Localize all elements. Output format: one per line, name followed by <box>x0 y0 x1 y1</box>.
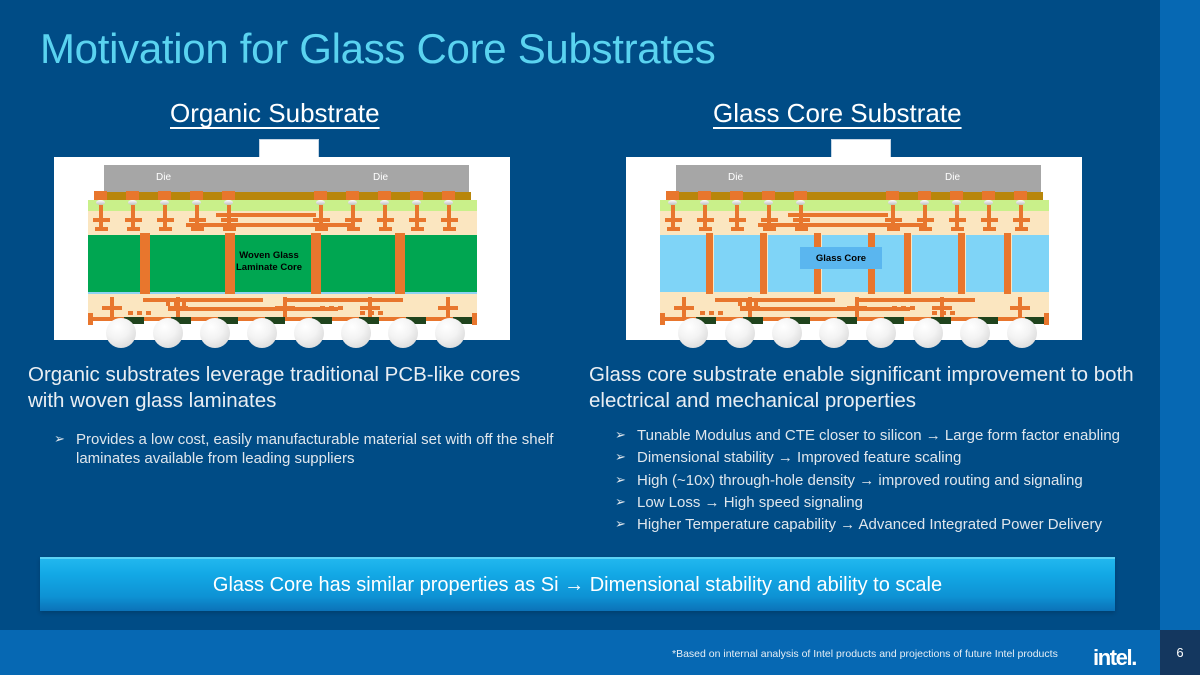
list-item: ➢ High (~10x) through-hole density → imp… <box>615 472 1160 490</box>
c4-bump-pad <box>918 191 931 200</box>
buildup-trace <box>1015 227 1028 231</box>
bottom-trace-dash <box>718 311 723 315</box>
bottom-trace-dash <box>378 311 383 315</box>
bottom-micro-via <box>446 309 450 317</box>
core-block <box>88 235 143 292</box>
micro-via <box>383 205 387 219</box>
die-block-left <box>676 165 885 193</box>
c4-bump-pad <box>698 191 711 200</box>
micro-via <box>1019 205 1023 219</box>
bottom-micro-via <box>110 309 114 317</box>
bullet-arrow-icon: ➢ <box>615 449 627 467</box>
micro-via <box>671 205 675 219</box>
bottom-trace-dash <box>950 311 955 315</box>
bga-ball <box>247 318 277 348</box>
bottom-micro-via <box>940 309 944 317</box>
bga-ball <box>200 318 230 348</box>
bottom-micro-via <box>368 309 372 317</box>
bga-ball <box>106 318 136 348</box>
core-block <box>966 235 1006 292</box>
bottom-trace-dash <box>320 306 325 310</box>
organic-diagram-stack: Die Die Woven Glass Laminate Core <box>68 161 496 337</box>
bottom-trace-dash <box>137 311 142 315</box>
bottom-trace-dash <box>709 311 714 315</box>
bga-ball <box>866 318 896 348</box>
bottom-trace <box>855 298 975 302</box>
micro-via <box>955 205 959 219</box>
bga-ball <box>388 318 418 348</box>
column-heading-organic: Organic Substrate <box>170 98 380 129</box>
buildup-trace <box>887 227 900 231</box>
slide-canvas: Motivation for Glass Core Substrates Org… <box>0 0 1200 675</box>
die-label-left: Die <box>156 172 171 183</box>
edge-copper-post <box>472 313 477 325</box>
bottom-trace-dash <box>128 311 133 315</box>
bga-ball <box>153 318 183 348</box>
core-block <box>1012 235 1049 292</box>
micro-via <box>195 205 199 219</box>
bottom-trace-dash <box>892 306 897 310</box>
list-item: ➢ Dimensional stability → Improved featu… <box>615 449 1160 467</box>
bottom-trace <box>715 298 835 302</box>
core-block <box>320 235 395 292</box>
list-item-label: Low Loss → High speed signaling <box>637 494 1160 512</box>
footnote-disclaimer: *Based on internal analysis of Intel pro… <box>672 648 1058 660</box>
buildup-trace <box>919 227 932 231</box>
edge-copper-post <box>1044 313 1049 325</box>
glass-diagram-stack: Die Die Glass Core <box>640 161 1068 337</box>
key-takeaway-banner: Glass Core has similar properties as Si … <box>40 557 1115 611</box>
through-core-via <box>395 233 405 294</box>
bottom-trace <box>168 307 338 311</box>
bottom-trace-dash <box>910 306 915 310</box>
list-item: ➢ Higher Temperature capability → Advanc… <box>615 516 1160 534</box>
bga-ball <box>960 318 990 348</box>
bottom-trace-dash <box>360 311 365 315</box>
buildup-trace <box>443 227 456 231</box>
core-block <box>402 235 477 292</box>
intel-logo: intel. <box>1093 645 1136 671</box>
buildup-trace <box>159 227 172 231</box>
through-core-via <box>904 233 911 294</box>
buildup-trace <box>315 227 328 231</box>
c4-bump-pad <box>314 191 327 200</box>
bga-ball <box>435 318 465 348</box>
bottom-trace-dash <box>700 311 705 315</box>
bottom-trace <box>143 298 263 302</box>
micro-via <box>351 205 355 219</box>
bottom-trace-dash <box>932 311 937 315</box>
power-plane-trace <box>758 223 923 227</box>
edge-copper-post <box>88 313 93 325</box>
c4-bump-pad <box>378 191 391 200</box>
power-plane-trace <box>216 213 316 217</box>
buildup-trace <box>379 227 392 231</box>
buildup-trace <box>223 227 236 231</box>
glass-bullet-list: ➢ Tunable Modulus and CTE closer to sili… <box>615 427 1160 538</box>
c4-bump-pad <box>762 191 775 200</box>
list-item: ➢ Low Loss → High speed signaling <box>615 494 1160 512</box>
c4-bump-pad <box>190 191 203 200</box>
c4-bump-pad <box>410 191 423 200</box>
micro-via <box>923 205 927 219</box>
bga-ball <box>678 318 708 348</box>
list-item-label: Dimensional stability → Improved feature… <box>637 449 1160 467</box>
bottom-trace-dash <box>146 311 151 315</box>
core-label-line-1: Woven Glass <box>239 250 299 261</box>
micro-via <box>415 205 419 219</box>
bga-ball <box>819 318 849 348</box>
buildup-trace <box>951 227 964 231</box>
bullet-arrow-icon: ➢ <box>615 427 627 445</box>
power-plane-trace <box>186 223 351 227</box>
bga-ball <box>1007 318 1037 348</box>
core-block <box>912 235 960 292</box>
buildup-trace <box>983 227 996 231</box>
micro-via <box>735 205 739 219</box>
glass-core-substrate-diagram: Die Die Glass Core <box>626 157 1082 340</box>
micro-via <box>319 205 323 219</box>
buildup-trace <box>763 227 776 231</box>
bottom-trace <box>283 298 403 302</box>
power-plane-trace <box>788 213 888 217</box>
c4-bump-pad <box>222 191 235 200</box>
through-core-via <box>1004 233 1011 294</box>
organic-lead-text: Organic substrates leverage traditional … <box>28 362 558 414</box>
micro-via <box>447 205 451 219</box>
buildup-trace <box>347 227 360 231</box>
glass-core-label: Glass Core <box>800 253 882 265</box>
die-label-right: Die <box>945 172 960 183</box>
bga-ball <box>341 318 371 348</box>
core-label-line-1: Glass Core <box>816 253 866 264</box>
c4-bump-pad <box>950 191 963 200</box>
die-label-left: Die <box>728 172 743 183</box>
list-item-label: Higher Temperature capability → Advanced… <box>637 516 1160 534</box>
buildup-trace <box>127 227 140 231</box>
bottom-micro-via <box>855 309 859 317</box>
bottom-micro-via <box>682 309 686 317</box>
bottom-trace-dash <box>329 306 334 310</box>
c4-bump-pad <box>346 191 359 200</box>
micro-via <box>767 205 771 219</box>
buildup-trace <box>95 227 108 231</box>
through-core-via <box>958 233 965 294</box>
organic-core-label: Woven Glass Laminate Core <box>214 250 324 274</box>
list-item: ➢ Tunable Modulus and CTE closer to sili… <box>615 427 1160 445</box>
column-heading-glass: Glass Core Substrate <box>713 98 962 129</box>
organic-bullet-list: ➢ Provides a low cost, easily manufactur… <box>54 431 559 471</box>
buildup-trace <box>699 227 712 231</box>
through-core-via <box>760 233 767 294</box>
micro-via <box>131 205 135 219</box>
bga-ball <box>294 318 324 348</box>
c4-bump-pad <box>886 191 899 200</box>
organic-substrate-diagram: Die Die Woven Glass Laminate Core <box>54 157 510 340</box>
micro-via <box>987 205 991 219</box>
bottom-trace-dash <box>338 306 343 310</box>
bullet-arrow-icon: ➢ <box>615 516 627 534</box>
bga-ball <box>772 318 802 348</box>
bullet-arrow-icon: ➢ <box>54 431 66 468</box>
bottom-micro-via <box>748 309 752 317</box>
glass-lead-text: Glass core substrate enable significant … <box>589 362 1159 414</box>
die-label-right: Die <box>373 172 388 183</box>
micro-via <box>163 205 167 219</box>
c4-bump-pad <box>666 191 679 200</box>
through-core-via <box>140 233 150 294</box>
banner-text: Glass Core has similar properties as Si … <box>213 574 942 597</box>
page-title: Motivation for Glass Core Substrates <box>40 26 715 72</box>
c4-bump-pad <box>730 191 743 200</box>
bottom-trace-dash <box>901 306 906 310</box>
list-item-label: Provides a low cost, easily manufacturab… <box>76 431 559 468</box>
page-number: 6 <box>1160 630 1200 675</box>
c4-bump-pad <box>158 191 171 200</box>
bga-ball <box>913 318 943 348</box>
buildup-trace <box>411 227 424 231</box>
bottom-trace <box>740 307 910 311</box>
die-block-right <box>885 165 1041 193</box>
through-core-via <box>706 233 713 294</box>
buildup-trace <box>731 227 744 231</box>
bottom-micro-via <box>176 309 180 317</box>
c4-bump-pad <box>794 191 807 200</box>
list-item: ➢ Provides a low cost, easily manufactur… <box>54 431 559 468</box>
bullet-arrow-icon: ➢ <box>615 472 627 490</box>
die-block-left <box>104 165 313 193</box>
c4-bump-pad <box>94 191 107 200</box>
buildup-trace <box>191 227 204 231</box>
core-label-line-2: Laminate Core <box>236 262 302 273</box>
buildup-trace <box>795 227 808 231</box>
micro-via <box>99 205 103 219</box>
edge-copper-post <box>660 313 665 325</box>
bullet-arrow-icon: ➢ <box>615 494 627 512</box>
bga-ball <box>725 318 755 348</box>
core-block <box>660 235 708 292</box>
right-accent-strip <box>1160 0 1200 630</box>
c4-bump-pad <box>442 191 455 200</box>
buildup-trace <box>667 227 680 231</box>
bottom-micro-via <box>1018 309 1022 317</box>
micro-via <box>891 205 895 219</box>
micro-via <box>703 205 707 219</box>
die-block-right <box>313 165 469 193</box>
list-item-label: Tunable Modulus and CTE closer to silico… <box>637 427 1160 445</box>
c4-bump-pad <box>126 191 139 200</box>
core-block <box>714 235 762 292</box>
bottom-micro-via <box>283 309 287 317</box>
c4-bump-pad <box>982 191 995 200</box>
list-item-label: High (~10x) through-hole density → impro… <box>637 472 1160 490</box>
c4-bump-pad <box>1014 191 1027 200</box>
